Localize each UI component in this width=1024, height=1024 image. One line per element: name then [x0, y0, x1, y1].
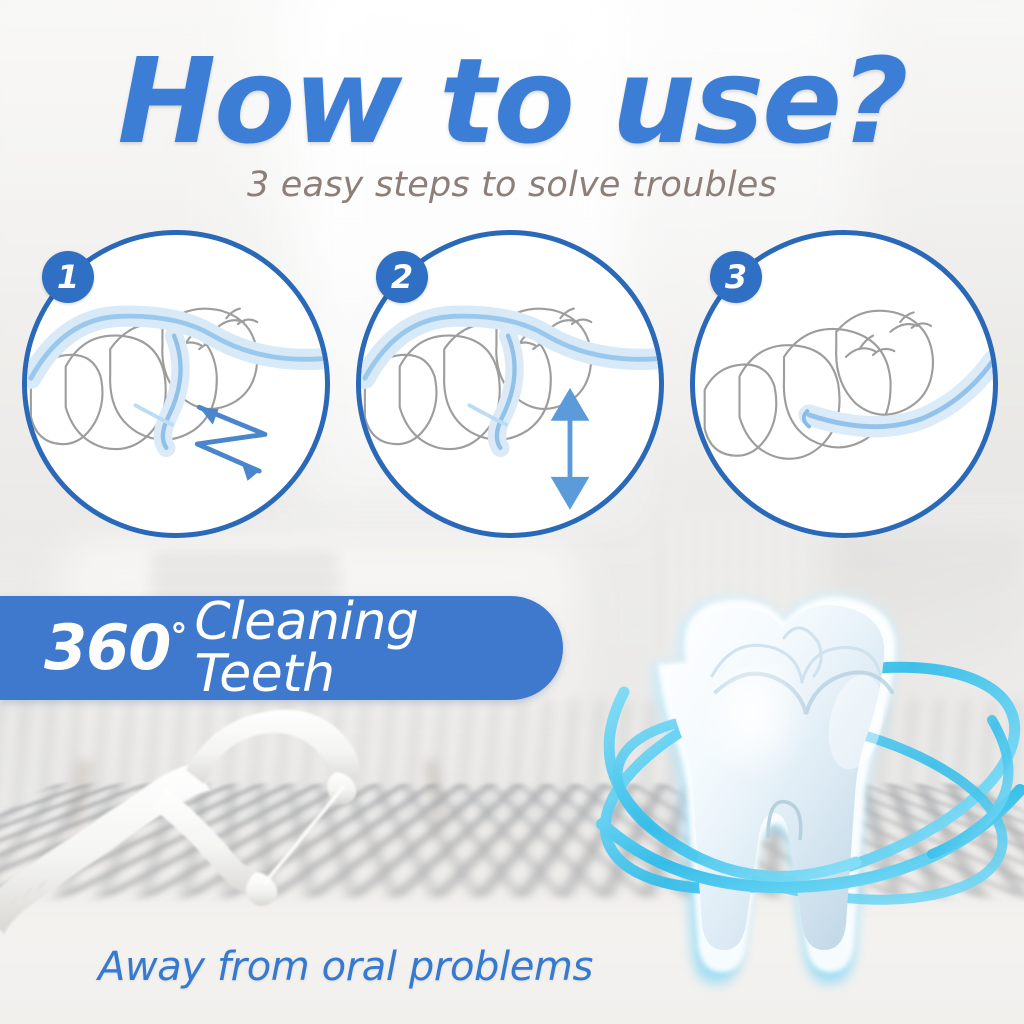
cleaning-banner: 360° Cleaning Teeth — [0, 596, 563, 700]
tooth-graphic — [588, 572, 1024, 1024]
banner-text: Cleaning Teeth — [194, 596, 563, 700]
step-badge-3: 3 — [710, 251, 762, 303]
banner-degrees: 360° — [44, 617, 186, 679]
page-title: How to use? — [0, 42, 1024, 160]
floss-pick-graphic — [0, 700, 460, 960]
white-plastic-floss-pick — [0, 700, 460, 960]
step-badge-2: 2 — [376, 251, 428, 303]
step-badge-1: 1 — [42, 251, 94, 303]
infographic-canvas: How to use? 3 easy steps to solve troubl… — [0, 0, 1024, 1024]
tagline: Away from oral problems — [98, 944, 593, 990]
tooth-with-orbit-rings — [588, 572, 1024, 1024]
page-subtitle: 3 easy steps to solve troubles — [0, 165, 1024, 205]
steps-row: 1 2 3 — [0, 228, 1024, 548]
